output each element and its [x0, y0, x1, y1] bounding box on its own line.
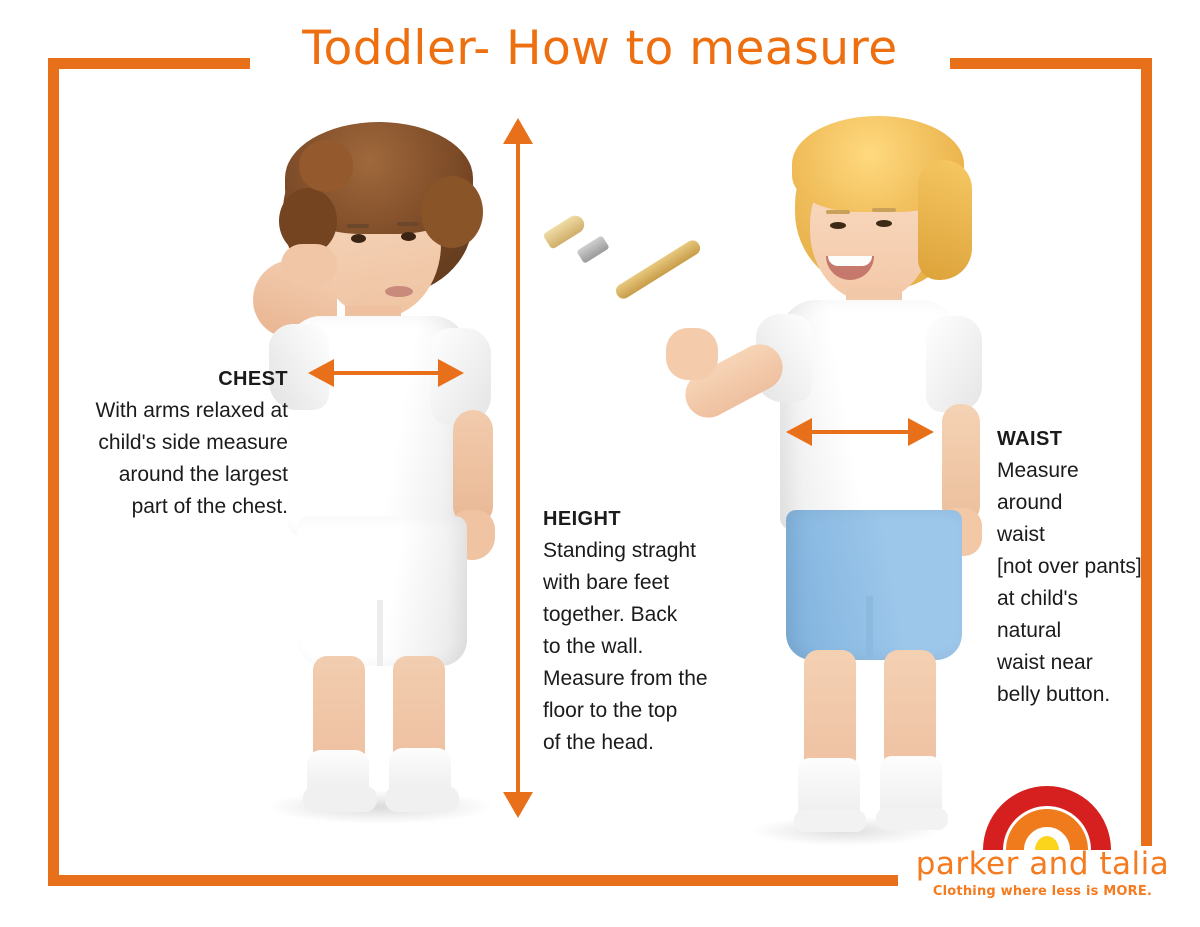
page-title: Toddler- How to measure: [250, 18, 950, 80]
left-child-eyebrow: [347, 224, 369, 228]
right-child-arm: [942, 404, 980, 524]
paintbrush-ferrule: [576, 235, 609, 264]
right-child-leg: [804, 650, 856, 772]
left-child-hair-curl: [299, 140, 353, 192]
arrowhead-down-icon: [503, 792, 533, 818]
brand-tagline: Clothing where less is MORE.: [905, 884, 1180, 899]
left-child-foot: [303, 786, 377, 812]
frame-left-segment: [48, 58, 59, 886]
arrow-shaft: [802, 430, 918, 434]
right-child-hand-holding-brush: [666, 328, 718, 380]
right-child-hair-side: [918, 160, 972, 280]
chest-measure-arrow: [308, 355, 464, 391]
frame-top-left-segment: [48, 58, 250, 69]
left-child-floor-shadow: [265, 790, 495, 824]
brand-logo: parker and talia Clothing where less is …: [905, 758, 1180, 918]
right-child-blue-shorts: [786, 510, 962, 660]
left-child-mouth: [385, 286, 413, 297]
brand-name: parker and talia: [905, 846, 1180, 882]
left-child-raised-hand: [281, 244, 337, 286]
arrowhead-right-icon: [438, 359, 464, 387]
chest-heading: CHEST: [70, 368, 288, 391]
height-body-text: Standing straght with bare feet together…: [543, 535, 713, 759]
left-child-shorts-split: [377, 600, 383, 666]
left-child-eye: [351, 234, 366, 243]
right-child-eye: [876, 220, 892, 227]
left-child-hair-curl: [421, 176, 483, 248]
rainbow-arch-icon: [983, 758, 1111, 850]
left-child-arm: [453, 410, 493, 526]
waist-measure-arrow: [786, 414, 934, 450]
chest-body-text: With arms relaxed at child's side measur…: [70, 395, 288, 523]
right-child-shorts-split: [866, 596, 873, 660]
right-child-eyebrow: [826, 210, 850, 214]
arrow-shaft: [516, 136, 520, 800]
height-measure-arrow: [501, 118, 535, 818]
height-heading: HEIGHT: [543, 508, 713, 531]
right-child-eye: [830, 222, 846, 229]
right-child-eyebrow: [872, 208, 896, 212]
right-child-teeth: [828, 256, 872, 266]
right-child-foot: [794, 810, 866, 832]
left-child-foot: [385, 786, 459, 812]
left-child-eyebrow: [397, 222, 419, 226]
frame-top-right-segment: [950, 58, 1152, 69]
waist-instruction-block: WAIST Measure around waist [not over pan…: [997, 428, 1147, 711]
waist-heading: WAIST: [997, 428, 1147, 451]
left-child-eye: [401, 232, 416, 241]
frame-bottom-segment: [48, 875, 898, 886]
size-guide-canvas: Toddler- How to measure: [0, 0, 1200, 927]
right-child-leg: [884, 650, 936, 772]
paintbrush-handle: [613, 238, 702, 302]
paintbrush-bristles: [542, 212, 587, 250]
height-instruction-block: HEIGHT Standing straght with bare feet t…: [543, 508, 713, 759]
right-child-sleeve: [926, 316, 982, 412]
chest-instruction-block: CHEST With arms relaxed at child's side …: [70, 368, 288, 523]
arrow-shaft: [324, 371, 448, 375]
waist-body-text: Measure around waist [not over pants] at…: [997, 455, 1147, 711]
arrowhead-right-icon: [908, 418, 934, 446]
